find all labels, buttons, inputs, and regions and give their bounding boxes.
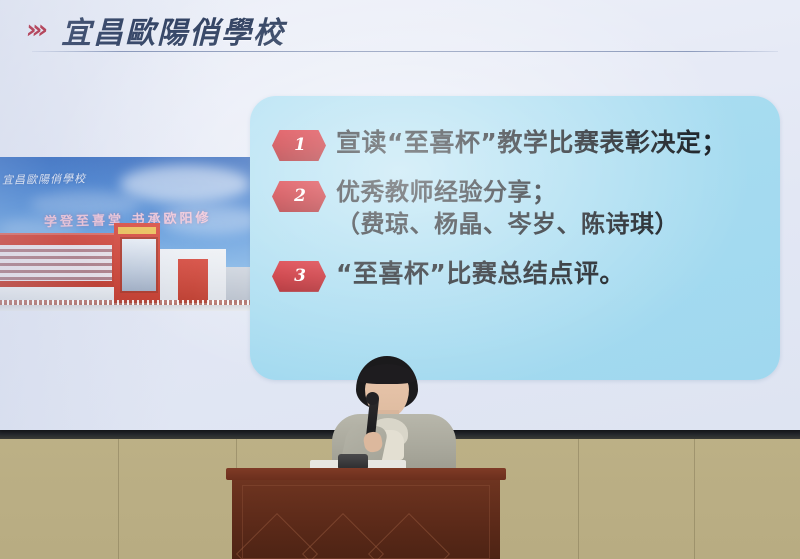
tower-window-panel [120, 237, 158, 293]
badge-number: 2 [292, 188, 306, 205]
building-glass-facade [0, 245, 112, 281]
school-building-photo: 宜昌歐陽俏學校 学登至喜堂 书承欧阳修 [0, 157, 250, 311]
microphone-head-icon [366, 392, 379, 405]
agenda-item-text: 优秀教师经验分享； （费琼、杨晶、岑岁、陈诗琪） [336, 177, 770, 241]
agenda-item-text: “至喜杯”比赛总结点评。 [336, 257, 770, 290]
wall-seam [694, 437, 695, 559]
hexagon-badge-icon: 3 [272, 261, 326, 292]
agenda-list: 1 宣读“至喜杯”教学比赛表彰决定； 2 优秀教师经验分享； （费琼、杨晶、岑岁… [272, 126, 770, 292]
podium [226, 468, 506, 559]
wall-seam [118, 437, 119, 559]
badge-number: 3 [292, 268, 306, 285]
podium-top-surface [226, 468, 506, 480]
header-divider [32, 51, 778, 52]
agenda-item: 1 宣读“至喜杯”教学比赛表彰决定； [272, 126, 770, 161]
fence-strip [0, 300, 250, 305]
tower-sign-band [118, 227, 156, 234]
chevrons-icon: ››› [25, 17, 53, 43]
badge-number: 1 [292, 137, 306, 154]
slide-header: ››› 宜昌歐陽俏學校 [26, 8, 285, 52]
building-illustration [0, 223, 250, 311]
agenda-item: 3 “至喜杯”比赛总结点评。 [272, 257, 770, 292]
building-tower [114, 223, 160, 311]
hexagon-badge-icon: 1 [272, 130, 326, 161]
agenda-card: 1 宣读“至喜杯”教学比赛表彰决定； 2 优秀教师经验分享； （费琼、杨晶、岑岁… [250, 96, 780, 380]
school-title: 宜昌歐陽俏學校 [61, 8, 285, 52]
hexagon-badge-icon: 2 [272, 181, 326, 212]
presentation-screenshot: ››› 宜昌歐陽俏學校 宜昌歐陽俏學校 学登至喜堂 书承欧阳修 [0, 0, 800, 559]
agenda-item: 2 优秀教师经验分享； （费琼、杨晶、岑岁、陈诗琪） [272, 177, 770, 241]
podium-diamond-pattern [248, 525, 438, 559]
agenda-item-text: 宣读“至喜杯”教学比赛表彰决定； [336, 126, 770, 159]
podium-front-panel [232, 480, 500, 559]
cloud [120, 165, 250, 203]
photo-school-logo-text: 宜昌歐陽俏學校 [2, 170, 86, 187]
wall-seam [578, 437, 579, 559]
